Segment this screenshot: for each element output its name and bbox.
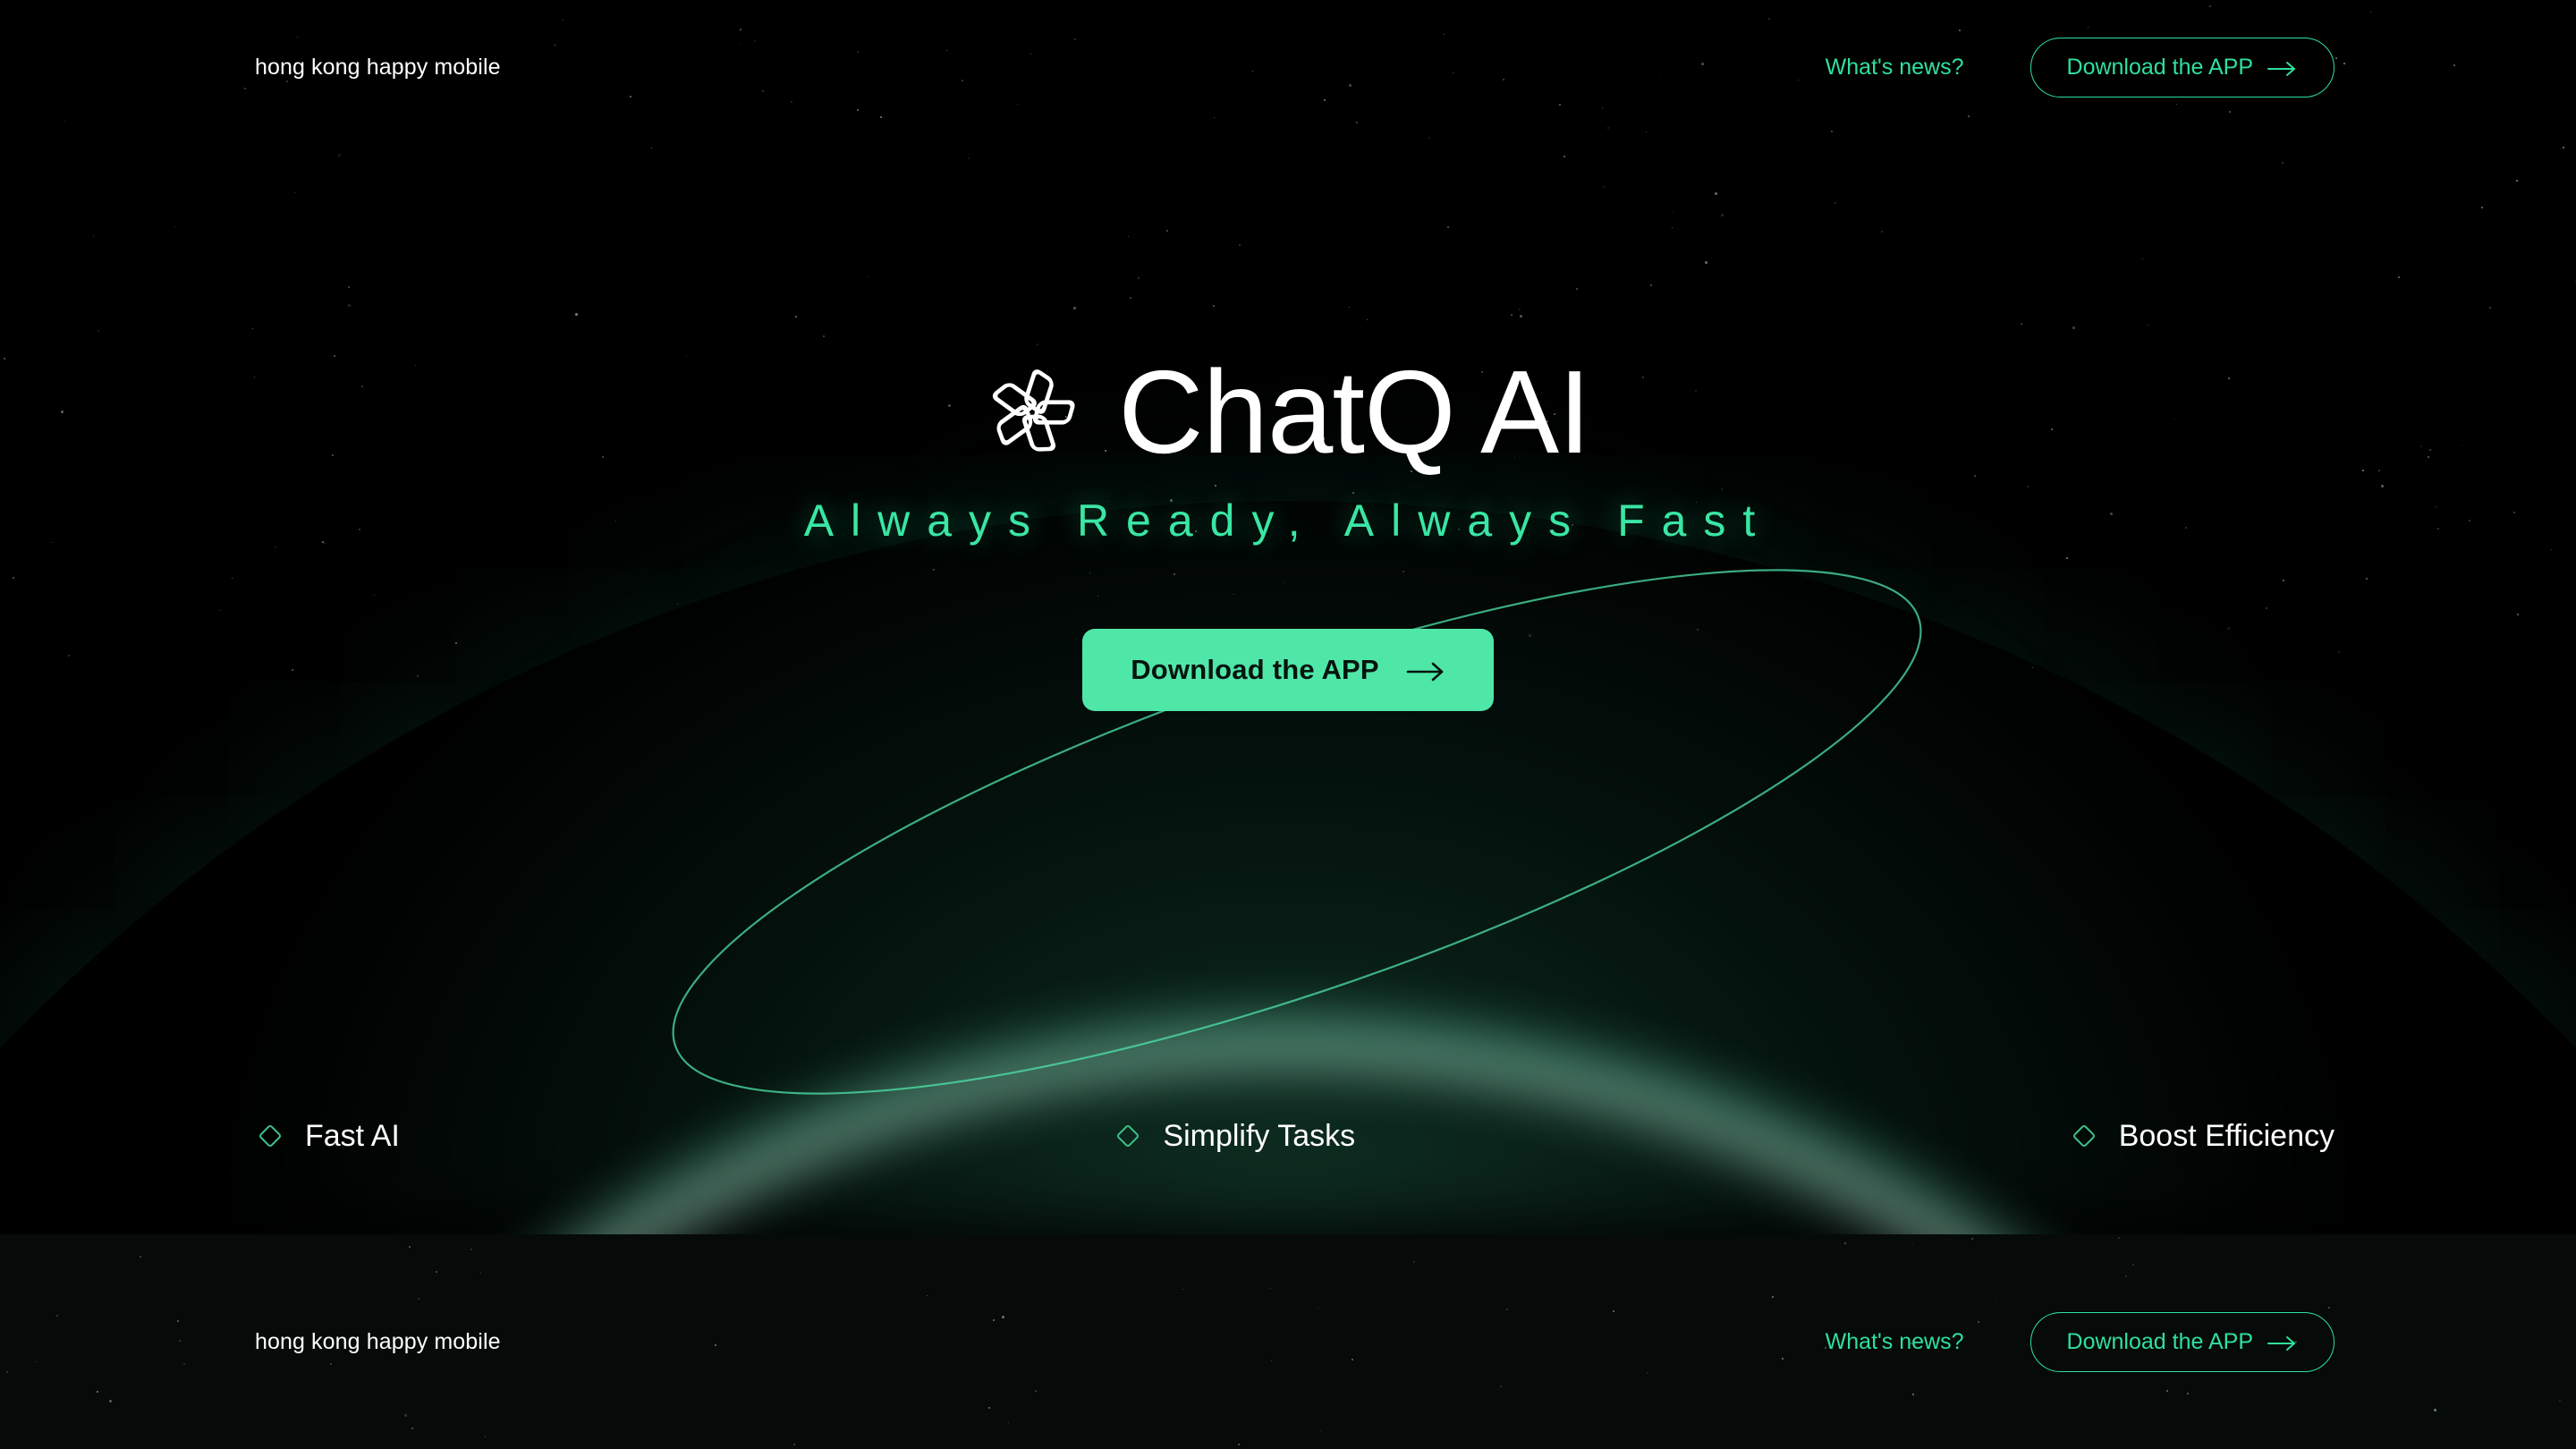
hero-download-app-button[interactable]: Download the APP: [1082, 629, 1494, 711]
arrow-right-icon: [2267, 58, 2298, 76]
lower-section: hong kong happy mobile What's news? Down…: [0, 1234, 2576, 1449]
feature-label: Fast AI: [305, 1119, 400, 1154]
arrow-right-icon: [1406, 658, 1445, 682]
hero-download-app-label: Download the APP: [1131, 654, 1379, 686]
header-nav: What's news? Download the APP: [1826, 38, 2334, 97]
feature-label: Boost Efficiency: [2119, 1119, 2334, 1154]
feature-list: Fast AI Simplify Tasks Boost Efficiency: [0, 1038, 2576, 1234]
chatq-pinwheel-logo-icon: [986, 366, 1079, 459]
arrow-right-icon: [2267, 1333, 2298, 1351]
nav-link-whats-news[interactable]: What's news?: [1826, 55, 1964, 80]
hero-title-row: ChatQ AI: [986, 353, 1590, 471]
diamond-icon: [2069, 1121, 2099, 1151]
landing-page: hong kong happy mobile What's news? Down…: [0, 0, 2576, 1449]
hero-section: hong kong happy mobile What's news? Down…: [0, 0, 2576, 1234]
site-header: hong kong happy mobile What's news? Down…: [0, 0, 2576, 134]
feature-item: Fast AI: [255, 1119, 400, 1154]
footer-brand-logo-text[interactable]: hong kong happy mobile: [255, 1329, 501, 1355]
footer-header: hong kong happy mobile What's news? Down…: [0, 1275, 2576, 1409]
diamond-icon: [255, 1121, 285, 1151]
feature-item: Simplify Tasks: [1113, 1119, 1355, 1154]
diamond-icon: [1113, 1121, 1143, 1151]
footer-download-app-label: Download the APP: [2067, 1329, 2253, 1355]
brand-logo-text[interactable]: hong kong happy mobile: [255, 55, 501, 80]
header-download-app-button[interactable]: Download the APP: [2030, 38, 2334, 97]
feature-label: Simplify Tasks: [1163, 1119, 1355, 1154]
feature-item: Boost Efficiency: [2069, 1119, 2334, 1154]
footer-nav-link-whats-news[interactable]: What's news?: [1826, 1329, 1964, 1355]
footer-download-app-button[interactable]: Download the APP: [2030, 1312, 2334, 1372]
hero-tagline: Always Ready, Always Fast: [804, 495, 1773, 547]
footer-nav: What's news? Download the APP: [1826, 1312, 2334, 1372]
page-title: ChatQ AI: [1118, 353, 1590, 471]
header-download-app-label: Download the APP: [2067, 55, 2253, 80]
